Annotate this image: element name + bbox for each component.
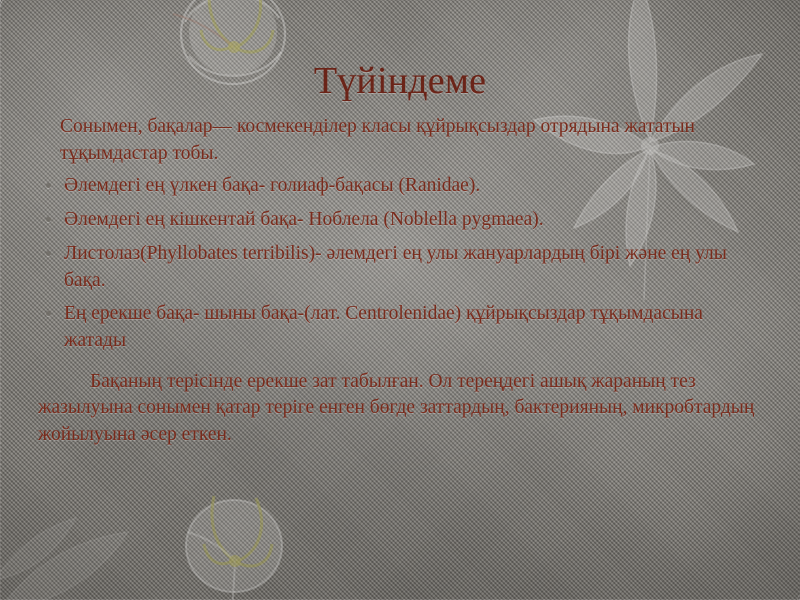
bullet-dot-icon <box>46 217 51 222</box>
bullet-dot-icon <box>46 311 51 316</box>
bullet-item-4: Ең ерекше бақа- шыны бақа-(лат. Centrole… <box>38 301 764 354</box>
bullet-item-4-text: Ең ерекше бақа- шыны бақа-(лат. Centrole… <box>64 303 703 351</box>
bullet-item-2: Әлемдегі ең кішкентай бақа- Ноблела (Nob… <box>38 207 764 234</box>
bullet-dot-icon <box>46 251 51 256</box>
slide-title: Түйіндеме <box>0 62 800 102</box>
bullet-item-3: Листолаз(Phyllobates terribilis)- әлемде… <box>38 241 764 294</box>
bullet-dot-icon <box>46 183 51 188</box>
intro-paragraph: Сонымен, бақалар— космекенділер класы құ… <box>60 114 764 167</box>
bullet-item-1-text: Әлемдегі ең үлкен бақа- голиаф-бақасы (R… <box>64 175 480 196</box>
slide-content: Түйіндеме Сонымен, бақалар— космекенділе… <box>0 0 800 600</box>
closing-paragraph: Бақаның терісінде ерекше зат табылған. О… <box>38 369 764 449</box>
bullet-item-1: Әлемдегі ең үлкен бақа- голиаф-бақасы (R… <box>38 173 764 200</box>
bullet-item-3-text: Листолаз(Phyllobates terribilis)- әлемде… <box>64 243 727 291</box>
bullet-item-2-text: Әлемдегі ең кішкентай бақа- Ноблела (Nob… <box>64 209 544 230</box>
slide-body: Сонымен, бақалар— космекенділер класы құ… <box>38 114 764 449</box>
presentation-slide: Түйіндеме Сонымен, бақалар— космекенділе… <box>0 0 800 600</box>
bullet-list: Әлемдегі ең үлкен бақа- голиаф-бақасы (R… <box>38 173 764 354</box>
